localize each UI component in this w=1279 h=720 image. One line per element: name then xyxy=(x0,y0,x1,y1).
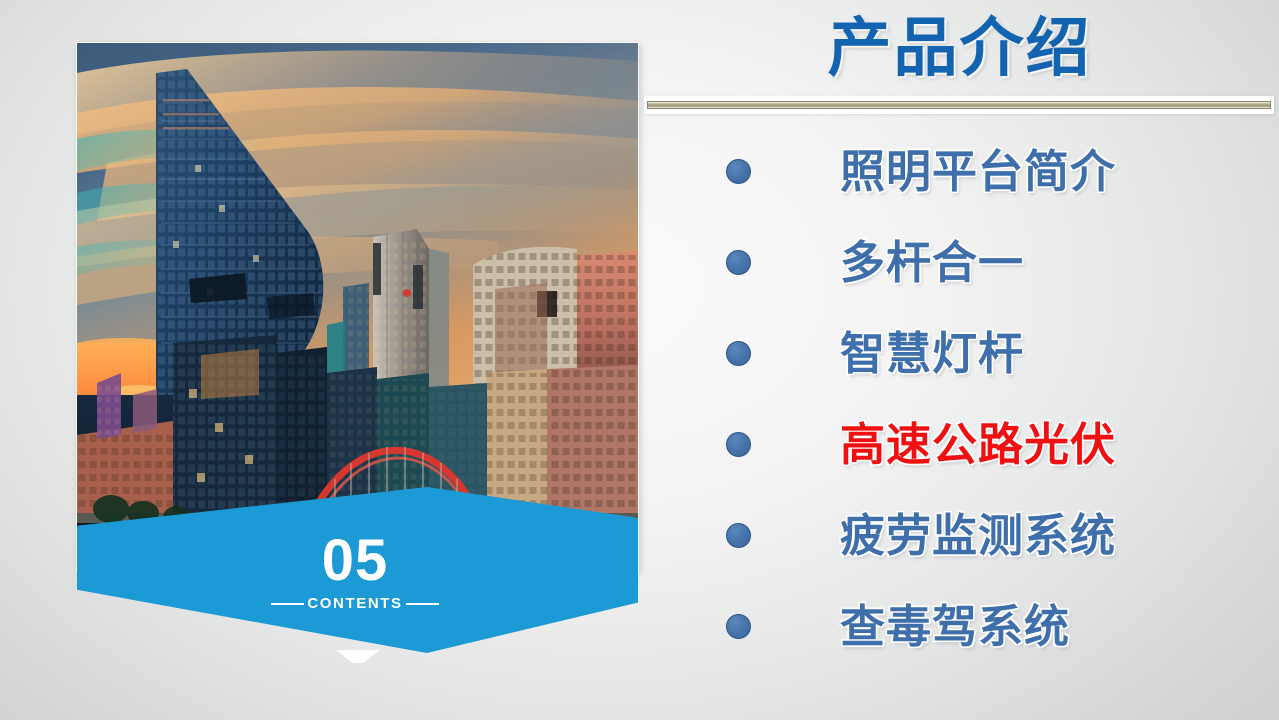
bullet-dot-icon xyxy=(726,159,751,184)
badge-rule-right xyxy=(406,603,439,605)
list-item[interactable]: 智慧灯杆 xyxy=(640,308,1279,399)
title-divider xyxy=(644,96,1274,114)
badge-caption: CONTENTS xyxy=(304,595,405,612)
badge-rule-left xyxy=(271,603,304,605)
list-item[interactable]: 查毒驾系统 xyxy=(640,581,1279,672)
badge-caption-row: CONTENTS xyxy=(77,595,638,612)
list-item-label: 智慧灯杆 xyxy=(840,326,1024,382)
list-item-label: 疲劳监测系统 xyxy=(840,508,1116,564)
bullet-dot-icon xyxy=(726,341,751,366)
bullet-dot-icon xyxy=(726,250,751,275)
bullet-dot-icon xyxy=(726,432,751,457)
down-arrow-icon xyxy=(336,650,380,663)
presentation-slide: 05 CONTENTS 产品介绍 照明平台简介 多杆合一 智慧灯杆 xyxy=(0,0,1279,720)
list-item[interactable]: 照明平台简介 xyxy=(640,126,1279,217)
page-title: 产品介绍 xyxy=(640,7,1279,91)
list-item-label: 照明平台简介 xyxy=(840,144,1116,200)
bullet-dot-icon xyxy=(726,614,751,639)
topic-list: 照明平台简介 多杆合一 智慧灯杆 高速公路光伏 疲劳监测系统 查毒驾系统 xyxy=(640,126,1279,672)
list-item[interactable]: 高速公路光伏 xyxy=(640,399,1279,490)
cityscape-photo xyxy=(77,43,638,572)
list-item-label: 多杆合一 xyxy=(840,235,1024,291)
bullet-dot-icon xyxy=(726,523,751,548)
cityscape-illustration xyxy=(77,43,638,572)
list-item-label-highlighted: 高速公路光伏 xyxy=(840,417,1116,473)
list-item[interactable]: 多杆合一 xyxy=(640,217,1279,308)
content-panel: 产品介绍 照明平台简介 多杆合一 智慧灯杆 高速公路光伏 疲劳监测系统 xyxy=(640,0,1279,720)
list-item[interactable]: 疲劳监测系统 xyxy=(640,490,1279,581)
list-item-label: 查毒驾系统 xyxy=(840,599,1070,655)
